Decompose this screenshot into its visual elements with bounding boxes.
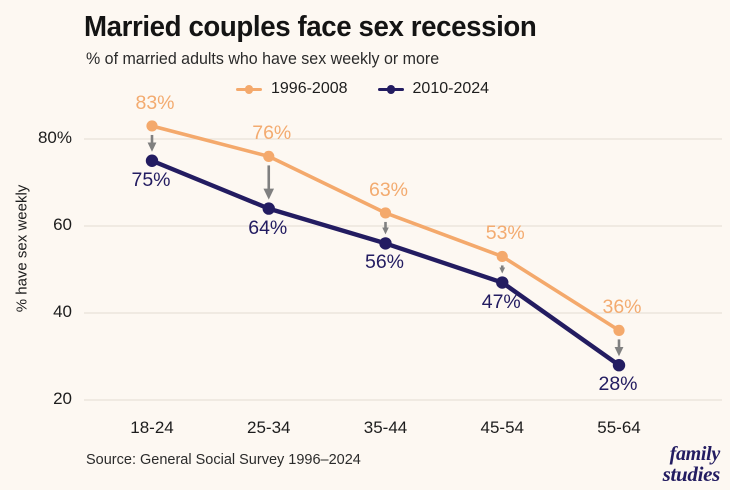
family-studies-logo: family studies [663,445,720,484]
x-axis-tick-label: 55-64 [574,418,664,438]
x-axis-tick-label: 25-34 [224,418,314,438]
x-axis-tick-label: 35-44 [341,418,431,438]
data-value-label: 28% [583,373,653,396]
decline-arrow-icon [148,135,157,152]
data-point[interactable] [613,359,625,371]
data-point[interactable] [263,151,274,162]
data-point[interactable] [613,325,624,336]
data-point[interactable] [146,155,158,167]
data-value-label: 63% [354,179,424,202]
decline-arrow-icon [263,165,274,199]
data-value-label: 75% [116,169,186,192]
data-point[interactable] [263,202,275,214]
chart-container: Married couples face sex recession % of … [0,0,730,490]
data-value-label: 76% [237,122,307,145]
data-value-label: 47% [466,291,536,314]
plot-area [0,0,730,490]
data-point[interactable] [379,237,391,249]
data-value-label: 64% [233,217,303,240]
y-axis-tick-label: 40 [12,302,72,322]
data-point[interactable] [496,276,508,288]
decline-arrow-icon [615,339,624,356]
data-point[interactable] [146,120,157,131]
data-value-label: 83% [120,92,190,115]
data-value-label: 53% [470,222,540,245]
x-axis-tick-label: 18-24 [107,418,197,438]
logo-line-2: studies [663,464,720,484]
y-axis-tick-label: 60 [12,215,72,235]
source-note: Source: General Social Survey 1996–2024 [86,452,361,468]
decline-arrow-icon [499,265,505,273]
decline-arrow-icon [382,222,389,234]
data-value-label: 36% [587,296,657,319]
data-point[interactable] [380,207,391,218]
y-axis-tick-label: 20 [12,389,72,409]
y-axis-tick-label: 80% [12,128,72,148]
x-axis-tick-label: 45-54 [457,418,547,438]
data-point[interactable] [497,251,508,262]
data-value-label: 56% [350,251,420,274]
